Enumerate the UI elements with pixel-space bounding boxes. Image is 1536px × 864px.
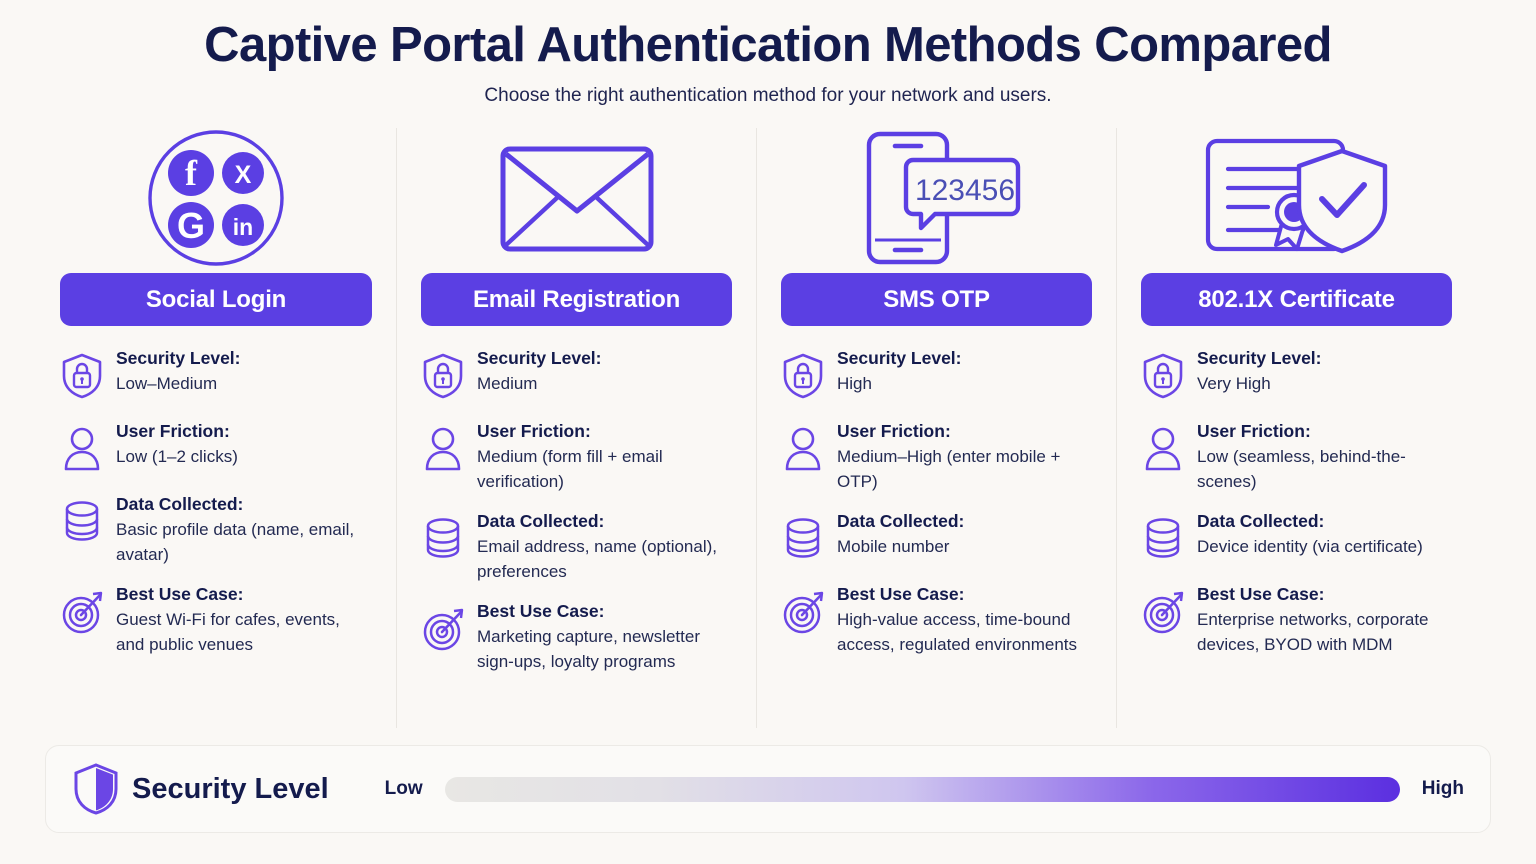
field-data-collected: Data Collected: Email address, name (opt… [421,511,732,585]
field-user-friction: User Friction: Medium–High (enter mobile… [781,421,1092,495]
field-security-level: Security Level: Medium [421,348,732,405]
shield-lock-icon [781,348,833,405]
field-value-use-case: High-value access, time-bound access, re… [837,607,1092,658]
method-title-social-login: Social Login [60,273,372,326]
social-login-art: f X G in [60,128,372,268]
legend-scale-high: High [1422,778,1464,800]
otp-code-text: 123456 [914,174,1014,207]
shield-half-filled-icon [72,762,126,816]
field-value-security: Very High [1197,371,1452,397]
legend-scale-low: Low [385,778,423,800]
column-8021x-certificate: 802.1X Certificate Security Level: Very … [1116,128,1476,728]
database-icon [60,494,112,551]
field-value-use-case: Guest Wi-Fi for cafes, events, and publi… [116,607,372,658]
field-label-friction: User Friction: [1197,421,1311,441]
method-title-email-registration: Email Registration [421,273,732,326]
person-icon [1141,421,1193,478]
field-best-use-case: Best Use Case: High-value access, time-b… [781,584,1092,658]
database-icon [781,511,833,568]
field-data-collected: Data Collected: Basic profile data (name… [60,494,372,568]
field-value-security: High [837,371,1092,397]
field-label-security: Security Level: [837,348,962,368]
page-title: Captive Portal Authentication Methods Co… [0,20,1536,71]
field-label-use-case: Best Use Case: [116,584,243,604]
method-title-sms-otp: SMS OTP [781,273,1092,326]
field-label-data: Data Collected: [837,511,964,531]
target-arrow-icon [421,601,473,658]
person-icon [421,421,473,478]
svg-text:in: in [233,214,253,240]
field-label-security: Security Level: [477,348,602,368]
field-value-use-case: Marketing capture, newsletter sign-ups, … [477,624,732,675]
column-email-registration: Email Registration Security Level: Mediu… [396,128,756,728]
field-value-data: Device identity (via certificate) [1197,534,1452,560]
field-label-data: Data Collected: [1197,511,1324,531]
column-sms-otp: 123456 SMS OTP Security Level: High [756,128,1116,728]
legend-label: Security Level [132,773,329,806]
person-icon [781,421,833,478]
field-value-friction: Medium–High (enter mobile + OTP) [837,444,1092,495]
method-title-8021x-certificate: 802.1X Certificate [1141,273,1452,326]
field-label-friction: User Friction: [116,421,230,441]
field-value-security: Low–Medium [116,371,372,397]
field-label-use-case: Best Use Case: [837,584,964,604]
field-value-use-case: Enterprise networks, corporate devices, … [1197,607,1452,658]
field-user-friction: User Friction: Low (seamless, behind-the… [1141,421,1452,495]
field-security-level: Security Level: High [781,348,1092,405]
field-label-data: Data Collected: [477,511,604,531]
sms-otp-art: 123456 [781,128,1092,268]
certificate-shield-icon [1202,133,1392,263]
svg-text:X: X [235,161,252,189]
svg-text:f: f [185,153,198,193]
field-data-collected: Data Collected: Mobile number [781,511,1092,568]
column-social-login: f X G in Social Login Security Level: [36,128,396,728]
field-value-data: Mobile number [837,534,1092,560]
field-user-friction: User Friction: Low (1–2 clicks) [60,421,372,478]
comparison-columns: f X G in Social Login Security Level: [0,128,1536,728]
field-label-data: Data Collected: [116,494,243,514]
field-label-friction: User Friction: [837,421,951,441]
field-value-friction: Low (1–2 clicks) [116,444,372,470]
certificate-art [1141,128,1452,268]
field-best-use-case: Best Use Case: Guest Wi-Fi for cafes, ev… [60,584,372,658]
field-best-use-case: Best Use Case: Marketing capture, newsle… [421,601,732,675]
social-login-icon: f X G in [145,128,287,268]
page-subtitle: Choose the right authentication method f… [0,85,1536,107]
target-arrow-icon [60,584,112,641]
shield-lock-icon [1141,348,1193,405]
field-label-use-case: Best Use Case: [477,601,604,621]
target-arrow-icon [781,584,833,641]
header: Captive Portal Authentication Methods Co… [0,0,1536,107]
shield-lock-icon [421,348,473,405]
field-label-friction: User Friction: [477,421,591,441]
target-arrow-icon [1141,584,1193,641]
field-security-level: Security Level: Very High [1141,348,1452,405]
field-value-data: Email address, name (optional), preferen… [477,534,732,585]
field-value-friction: Low (seamless, behind-the-scenes) [1197,444,1452,495]
person-icon [60,421,112,478]
infographic-canvas: Captive Portal Authentication Methods Co… [0,0,1536,864]
field-label-use-case: Best Use Case: [1197,584,1324,604]
field-value-friction: Medium (form fill + email verification) [477,444,732,495]
field-security-level: Security Level: Low–Medium [60,348,372,405]
field-label-security: Security Level: [1197,348,1322,368]
envelope-icon [497,139,657,257]
field-best-use-case: Best Use Case: Enterprise networks, corp… [1141,584,1452,658]
svg-text:G: G [177,205,205,246]
field-data-collected: Data Collected: Device identity (via cer… [1141,511,1452,568]
email-registration-art [421,128,732,268]
field-value-security: Medium [477,371,732,397]
field-label-security: Security Level: [116,348,241,368]
field-user-friction: User Friction: Medium (form fill + email… [421,421,732,495]
phone-otp-icon: 123456 [847,128,1027,268]
database-icon [1141,511,1193,568]
security-level-legend: Security Level Low High [45,745,1491,833]
field-value-data: Basic profile data (name, email, avatar) [116,517,372,568]
security-gradient-bar [445,777,1400,802]
database-icon [421,511,473,568]
shield-lock-icon [60,348,112,405]
